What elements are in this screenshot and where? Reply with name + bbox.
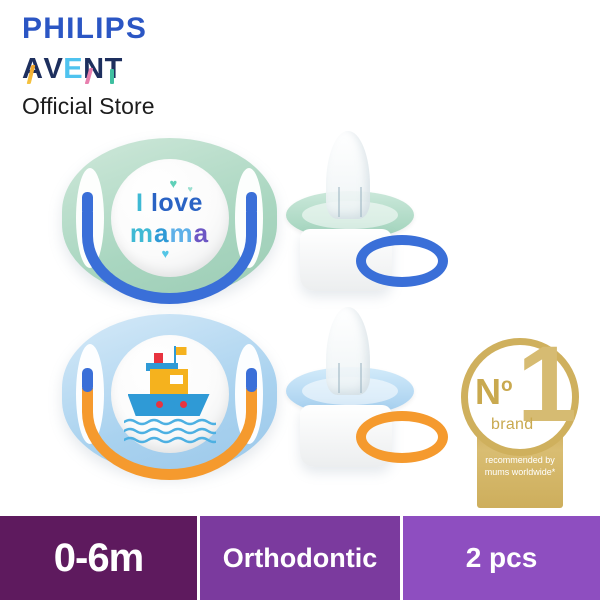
avent-letter-t: T xyxy=(105,55,123,84)
product-image-canvas: PHILIPS A V E N T Official Store ♥ ♥ ♥ I… xyxy=(0,0,600,600)
no1-brand-badge: 1 No brand recommended by mums worldwide… xyxy=(455,334,585,512)
avent-letter-n: N xyxy=(83,55,104,84)
soother-front-mama: ♥ ♥ ♥ I love mama xyxy=(62,138,277,298)
soother-teat-silicone xyxy=(326,131,370,219)
official-store-label: Official Store xyxy=(22,95,155,118)
soother-side-ring-orange xyxy=(356,411,448,463)
attribute-age-range: 0-6m xyxy=(0,516,197,600)
soother-ring-orange xyxy=(82,388,257,480)
badge-no-label: No xyxy=(475,374,513,410)
soother-ring-blue xyxy=(82,212,257,304)
avent-letter-a: A xyxy=(22,55,43,84)
attribute-quantity-label: 2 pcs xyxy=(466,542,538,574)
avent-wordmark: A V E N T xyxy=(22,55,155,84)
attribute-bar: 0-6m Orthodontic 2 pcs xyxy=(0,516,600,600)
avent-letter-v: V xyxy=(43,55,63,84)
attribute-shape-label: Orthodontic xyxy=(223,543,377,574)
attribute-shape: Orthodontic xyxy=(200,516,400,600)
soother-side-mama xyxy=(272,132,442,297)
avent-letter-e: E xyxy=(63,55,83,84)
attribute-quantity: 2 pcs xyxy=(403,516,600,600)
soother-side-ring-blue xyxy=(356,235,448,287)
brand-block: PHILIPS A V E N T Official Store xyxy=(22,14,155,118)
badge-brand-word: brand xyxy=(491,416,533,434)
badge-recommendation-text: recommended by mums worldwide* xyxy=(477,454,563,478)
attribute-age-label: 0-6m xyxy=(54,536,143,581)
soother-teat-silicone xyxy=(326,307,370,395)
boat-flag xyxy=(176,347,187,355)
philips-wordmark: PHILIPS xyxy=(22,14,155,44)
soother-front-boat xyxy=(62,314,277,474)
boat-window xyxy=(170,375,183,384)
soother-side-boat xyxy=(272,308,442,473)
